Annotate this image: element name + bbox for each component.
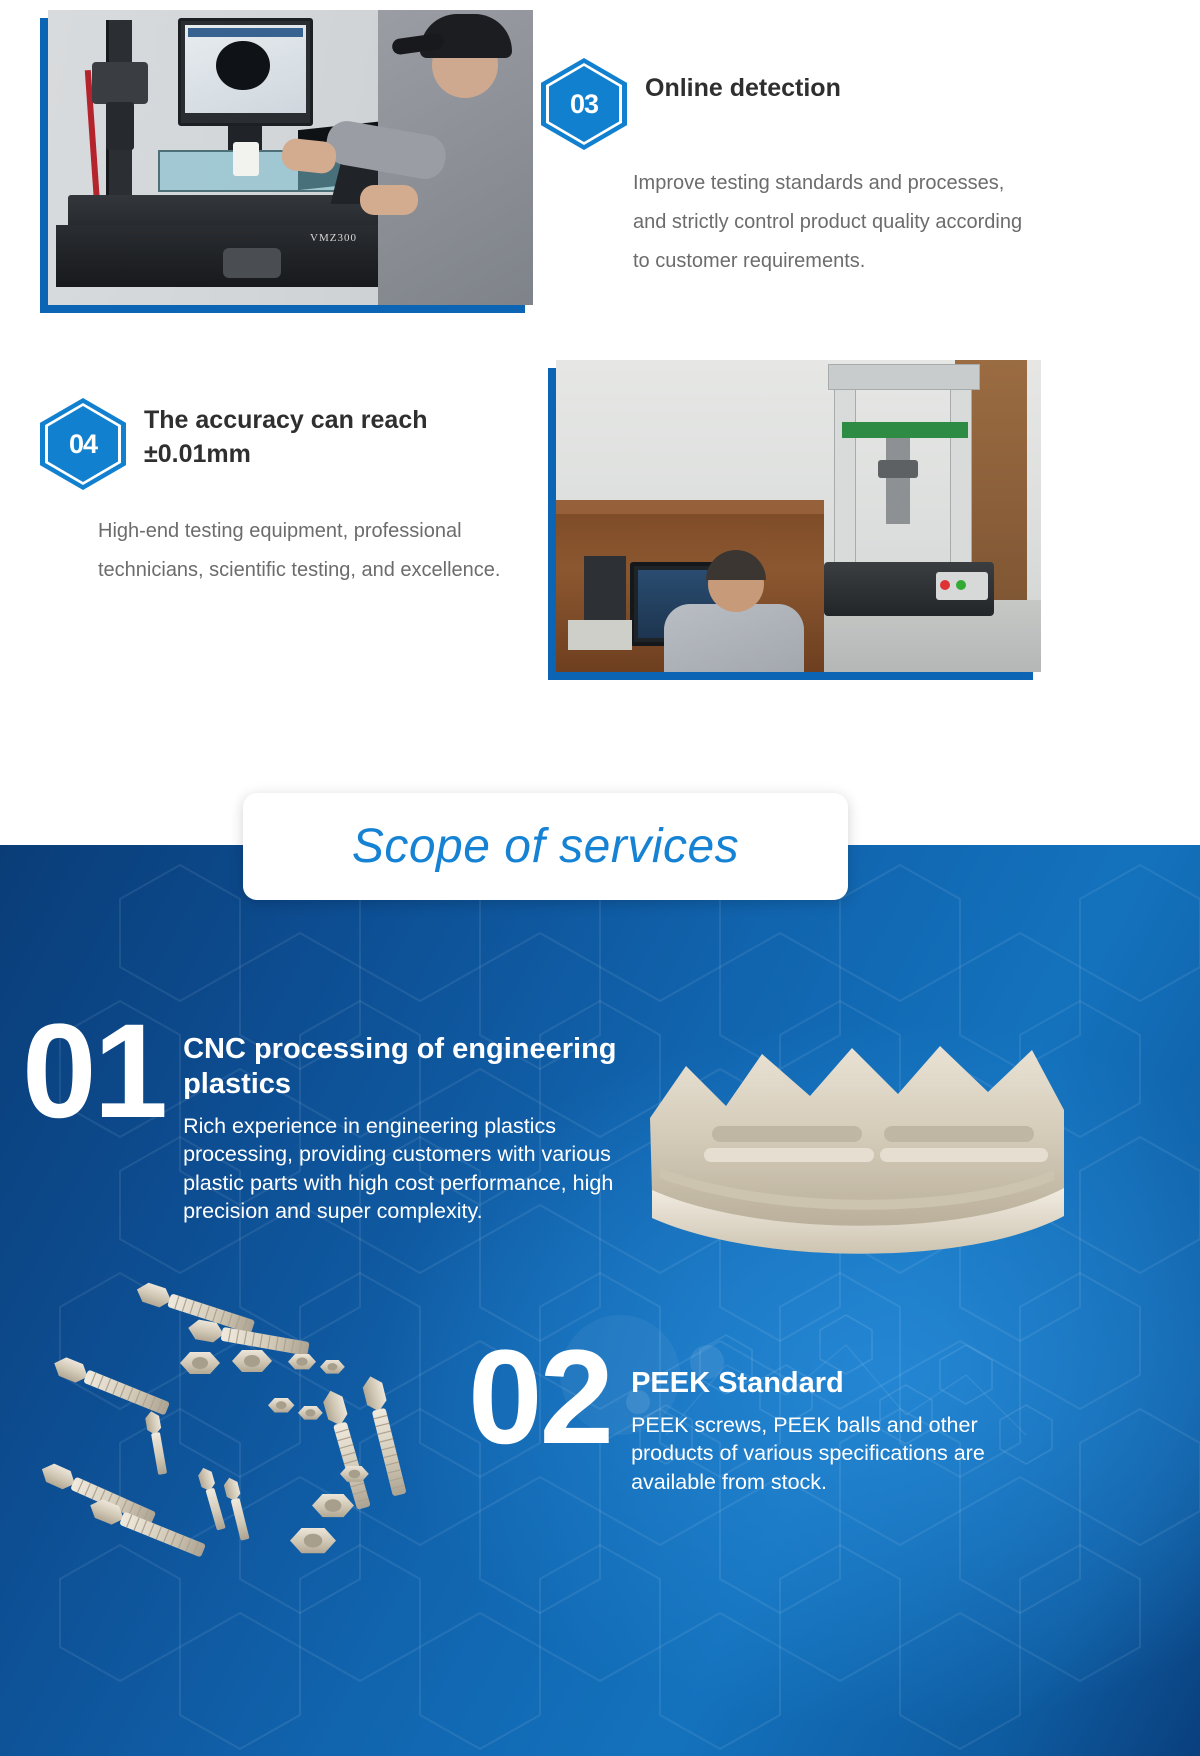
photo-machine-crosshead	[828, 364, 980, 390]
photo-operator-hand-right	[360, 185, 418, 215]
photo-optical-measuring-image: VMZ300	[48, 10, 533, 305]
scope-item-number: 02	[468, 1336, 611, 1497]
scope-item-number: 01	[22, 1010, 165, 1226]
photo-led-green	[956, 580, 966, 590]
scope-title-card: Scope of services	[243, 793, 848, 900]
feature-number: 04	[69, 431, 97, 458]
photo-machine-pillar-left	[834, 364, 856, 586]
photo-monitor-screen	[185, 25, 306, 113]
page-title: Scope of services	[352, 819, 739, 874]
scope-item-01: 01 CNC processing of engineering plastic…	[22, 1010, 662, 1226]
feature-number: 03	[570, 91, 598, 118]
feature-03-body: Improve testing standards and processes,…	[633, 164, 1041, 281]
photo-control-panel	[936, 572, 988, 600]
photo-operator-hair	[706, 550, 766, 580]
photo-printer	[568, 620, 632, 650]
photo-optical-measuring: VMZ300	[40, 18, 525, 313]
peek-part-icon	[640, 1040, 1070, 1280]
photo-machine-green-bar	[842, 422, 968, 438]
hexagon-badge-icon: 03	[541, 58, 627, 150]
scope-item-title: PEEK Standard	[631, 1366, 1041, 1401]
scope-item-text: PEEK Standard PEEK screws, PEEK balls an…	[631, 1336, 1041, 1497]
photo-machine-grip	[886, 438, 910, 524]
photo-monitor	[178, 18, 313, 126]
feature-block-03: 03 Online detection Improve testing stan…	[541, 58, 1041, 281]
scope-item-title: CNC processing of engineering plastics	[183, 1032, 623, 1102]
photo-tensile-tester-image	[556, 360, 1041, 672]
product-image-peek-screws	[40, 1270, 490, 1570]
feature-03-head: 03 Online detection	[541, 58, 1041, 150]
scope-item-body: PEEK screws, PEEK balls and other produc…	[631, 1411, 1041, 1497]
product-image-peek-part	[640, 1040, 1070, 1280]
hexagon-badge-icon: 04	[40, 398, 126, 490]
photo-led-red	[940, 580, 950, 590]
photo-cabinet-top	[556, 500, 824, 514]
photo-wood-cabinet	[556, 500, 824, 672]
photo-optic-lens	[106, 102, 134, 150]
photo-operator	[664, 604, 804, 672]
features-section: VMZ300 03 Online detection	[0, 0, 1200, 845]
peek-screws-icon	[40, 1270, 490, 1570]
feature-04-body: High-end testing equipment, professional…	[98, 512, 540, 590]
scope-item-text: CNC processing of engineering plastics R…	[183, 1010, 623, 1226]
photo-roller	[223, 248, 281, 278]
photo-testing-machine	[824, 364, 996, 614]
photo-operator-hand-left	[280, 137, 337, 174]
feature-04-title: The accuracy can reach ±0.01mm	[144, 398, 540, 471]
photo-machine-clamp	[878, 460, 918, 478]
photo-screen-toolbar	[188, 28, 303, 37]
feature-03-title: Online detection	[645, 58, 841, 106]
photo-optic-head	[92, 62, 148, 104]
feature-block-04: 04 The accuracy can reach ±0.01mm High-e…	[40, 398, 540, 590]
photo-tensile-tester	[548, 368, 1033, 680]
photo-machine-pillar-right	[950, 364, 972, 586]
photo-specimen	[233, 142, 259, 176]
feature-04-head: 04 The accuracy can reach ±0.01mm	[40, 398, 540, 490]
photo-operator	[378, 10, 533, 305]
scope-item-02: 02 PEEK Standard PEEK screws, PEEK balls…	[468, 1336, 1088, 1497]
scope-item-body: Rich experience in engineering plastics …	[183, 1112, 623, 1226]
photo-machine-label: VMZ300	[310, 232, 357, 244]
